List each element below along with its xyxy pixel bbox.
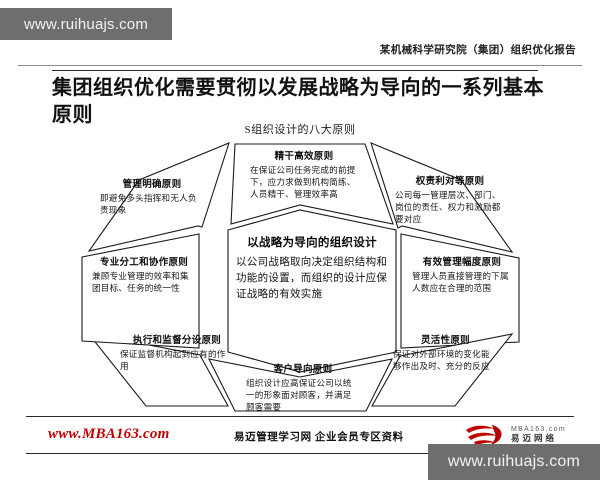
panel-center-body: 以公司战略取向决定组织结构和功能的设置，而组织的设计应保证战略的有效实施 (236, 255, 388, 303)
panel-bottom-right-title: 灵活性原则 (393, 332, 498, 346)
panel-bottom-left-title: 执行和监督分设原则 (120, 332, 234, 346)
panel-top-left-body: 即避免多头指挥和无人负责现象 (100, 192, 204, 216)
panel-bottom-title: 客户导向原则 (246, 361, 360, 375)
panel-bottom-left-body: 保证监督机构起到应有的作用 (120, 348, 234, 372)
panel-center: 以战略为导向的组织设计 以公司战略取向决定组织结构和功能的设置，而组织的设计应保… (236, 234, 388, 303)
logo-line2: 易迈网络 (511, 434, 566, 444)
panel-right-title: 有效管理幅度原则 (412, 254, 512, 268)
panel-left: 专业分工和协作原则 兼顾专业管理的效率和集团目标、任务的统一性 (92, 254, 196, 294)
panel-top-body: 在保证公司任务完成的前提下，应力求做到机构简练、人员精干、管理效率高 (250, 164, 358, 201)
watermark-bottom: www.ruihuajs.com (428, 444, 600, 480)
header-divider (18, 65, 582, 66)
running-head: 某机械科学研究院（集团）组织优化报告 (380, 42, 576, 57)
panel-bottom-left: 执行和监督分设原则 保证监督机构起到应有的作用 (120, 332, 234, 372)
panel-left-body: 兼顾专业管理的效率和集团目标、任务的统一性 (92, 270, 196, 294)
panel-bottom: 客户导向原则 组织设计应高保证公司以统一的形象面对顾客，并满足顾客需要 (246, 361, 360, 414)
footer-url[interactable]: www.MBA163.com (48, 426, 169, 443)
document-header: 某机械科学研究院（集团）组织优化报告 (0, 40, 600, 66)
panel-bottom-right: 灵活性原则 保证对外部环境的变化能够作出及时、充分的反应 (393, 332, 498, 372)
panel-top-title: 精干高效原则 (250, 148, 358, 162)
panel-top-right-title: 权责利对等原则 (395, 173, 505, 187)
panel-top-left: 管理明确原则 即避免多头指挥和无人负责现象 (100, 176, 204, 216)
panel-right-body: 管理人员直接管理的下属人数应在合理的范围 (412, 270, 512, 294)
panel-top-right: 权责利对等原则 公司每一管理层次、部门、岗位的责任、权力和激励都要对应 (395, 173, 505, 226)
principles-octagon-diagram: 精干高效原则 在保证公司任务完成的前提下，应力求做到机构简练、人员精干、管理效率… (0, 134, 600, 414)
watermark-top: www.ruihuajs.com (0, 8, 172, 40)
panel-top-left-title: 管理明确原则 (100, 176, 204, 190)
panel-left-title: 专业分工和协作原则 (92, 254, 196, 268)
panel-bottom-body: 组织设计应高保证公司以统一的形象面对顾客，并满足顾客需要 (246, 377, 360, 414)
panel-right: 有效管理幅度原则 管理人员直接管理的下属人数应在合理的范围 (412, 254, 512, 294)
logo-text: MBA163.com 易迈网络 (511, 426, 566, 443)
panel-bottom-right-body: 保证对外部环境的变化能够作出及时、充分的反应 (393, 348, 498, 372)
panel-center-title: 以战略为导向的组织设计 (236, 234, 388, 250)
title-divider (52, 70, 538, 71)
panel-top-right-body: 公司每一管理层次、部门、岗位的责任、权力和激励都要对应 (395, 189, 505, 226)
panel-top: 精干高效原则 在保证公司任务完成的前提下，应力求做到机构简练、人员精干、管理效率… (250, 148, 358, 201)
footer-caption: 易迈管理学习网 企业会员专区资料 (234, 429, 404, 444)
title-block: 集团组织优化需要贯彻以发展战略为导向的一系列基本原则 (52, 70, 552, 129)
